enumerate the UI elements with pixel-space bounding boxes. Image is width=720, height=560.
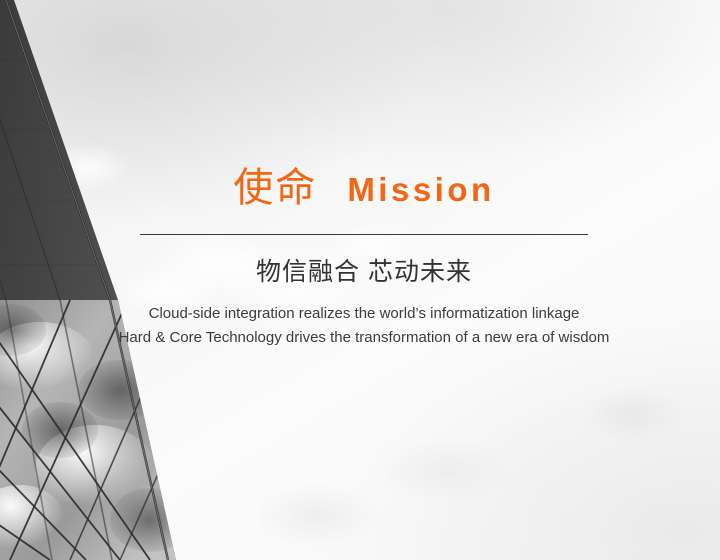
slide-content: 使命 Mission 物信融合 芯动未来 Cloud-side integrat…	[0, 0, 720, 560]
tagline-line-2: Hard & Core Technology drives the transf…	[60, 326, 668, 350]
mission-slide: 使命 Mission 物信融合 芯动未来 Cloud-side integrat…	[0, 0, 720, 560]
tagline-block: Cloud-side integration realizes the worl…	[60, 302, 668, 350]
page-title-english: Mission	[347, 173, 494, 206]
page-title-chinese: 使命	[233, 168, 317, 208]
subtitle-chinese: 物信融合 芯动未来	[140, 256, 588, 290]
title-divider	[140, 234, 588, 235]
tagline-line-1: Cloud-side integration realizes the worl…	[60, 302, 668, 326]
page-title: 使命 Mission	[140, 168, 588, 208]
